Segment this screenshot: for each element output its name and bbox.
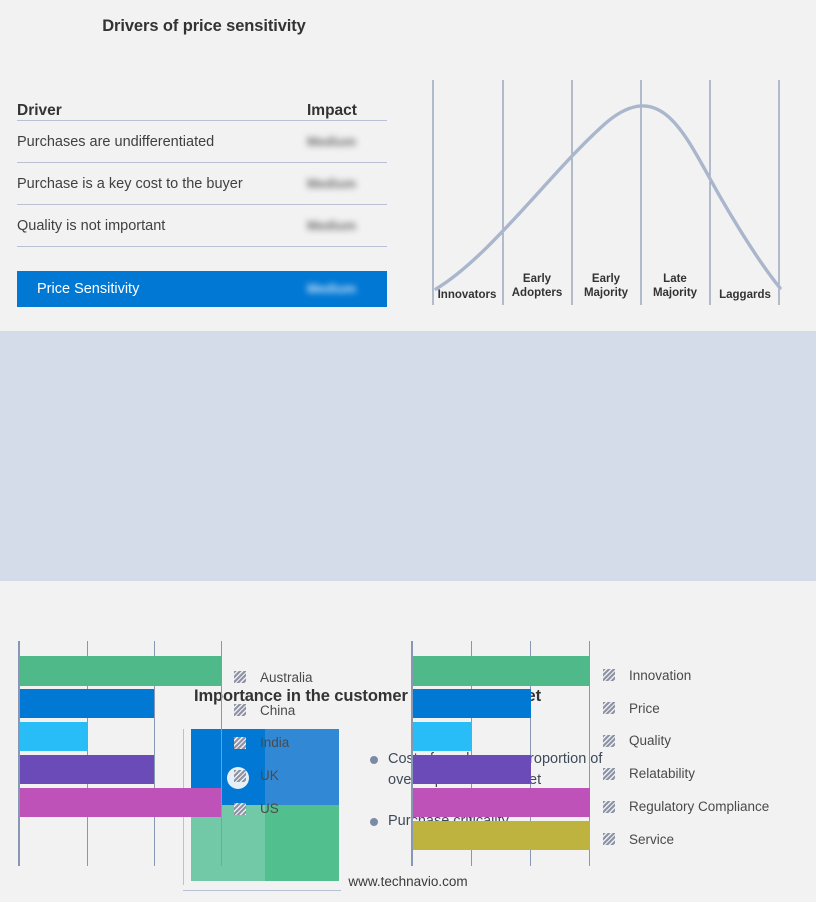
legend-item: Price (603, 692, 815, 725)
legend-item: Relatability (603, 757, 815, 790)
hatch-swatch-icon (603, 833, 615, 845)
lifecycle-stage-early-adopters: Early Adopters (501, 273, 573, 300)
price-sensitivity-summary-row: Price Sensitivity Medium (17, 271, 387, 307)
lifecycle-panel: Adoption lifecycle Innovators Early (408, 0, 816, 331)
lifecycle-bell-curve (436, 106, 780, 289)
infographic-page: Drivers of price sensitivity Driver Impa… (0, 0, 816, 902)
hatch-swatch-icon (603, 768, 615, 780)
bar (413, 722, 472, 752)
legend-label: Service (629, 832, 674, 847)
legend-label: US (260, 801, 279, 816)
legend-item: Quality (603, 725, 815, 758)
legend-item: India (234, 727, 404, 760)
table-row: Purchases are undifferentiated Medium (17, 121, 387, 163)
drivers-table: Driver Impact Purchases are undifferenti… (17, 91, 387, 247)
impact-value: Medium (307, 133, 387, 151)
price-sensitivity-impact: Medium (307, 280, 387, 298)
legend-label: Quality (629, 733, 671, 748)
drivers-title: Drivers of price sensitivity (0, 17, 408, 36)
key-purchase-criteria-legend: InnovationPriceQualityRelatabilityRegula… (603, 659, 815, 856)
hatch-swatch-icon (234, 671, 246, 683)
hatch-swatch-icon (603, 702, 615, 714)
bar (413, 755, 531, 785)
impact-value: Medium (307, 217, 387, 235)
hatch-swatch-icon (603, 669, 615, 681)
drivers-panel: Drivers of price sensitivity Driver Impa… (0, 0, 408, 331)
lifecycle-stage-laggards: Laggards (709, 289, 781, 303)
lifecycle-stage-labels: Innovators Early Adopters Early Majority… (432, 272, 804, 308)
key-purchase-criteria-plot (411, 641, 591, 866)
legend-item: US (234, 792, 404, 825)
column-header-impact: Impact (307, 102, 387, 120)
impact-value: Medium (307, 175, 387, 193)
legend-item: Service (603, 823, 815, 856)
adoption-rates-plot (18, 641, 222, 866)
driver-label: Purchase is a key cost to the buyer (17, 176, 307, 192)
bar (413, 821, 590, 851)
bar (20, 755, 154, 785)
legend-label: Price (629, 701, 660, 716)
criteria-bars-group (413, 641, 591, 866)
legend-item: Australia (234, 661, 404, 694)
table-row: Quality is not important Medium (17, 205, 387, 247)
bar (20, 722, 87, 752)
legend-item: Innovation (603, 659, 815, 692)
hatch-swatch-icon (603, 801, 615, 813)
legend-label: Relatability (629, 766, 695, 781)
adoption-rates-legend: AustraliaChinaIndiaUKUS (234, 661, 404, 825)
lifecycle-stage-late-majority: Late Majority (639, 273, 711, 300)
legend-label: UK (260, 768, 279, 783)
driver-label: Quality is not important (17, 218, 307, 234)
hatch-swatch-icon (234, 770, 246, 782)
bar (20, 689, 154, 719)
basket-panel: Importance in the customer purchase bask… (0, 331, 816, 581)
table-header-row: Driver Impact (17, 91, 387, 121)
hatch-swatch-icon (603, 735, 615, 747)
hatch-swatch-icon (234, 737, 246, 749)
legend-label: India (260, 735, 289, 750)
legend-item: UK (234, 759, 404, 792)
bar (20, 656, 221, 686)
hatch-swatch-icon (234, 704, 246, 716)
legend-label: China (260, 703, 295, 718)
column-header-driver: Driver (17, 102, 307, 120)
bar (413, 689, 531, 719)
legend-item: Regulatory Compliance (603, 790, 815, 823)
adoption-bars-group (20, 641, 222, 866)
legend-label: Australia (260, 670, 313, 685)
bar (413, 788, 590, 818)
lifecycle-stage-innovators: Innovators (431, 289, 503, 303)
bar (413, 656, 590, 686)
legend-label: Innovation (629, 668, 691, 683)
footer-url: www.technavio.com (0, 874, 816, 889)
legend-item: China (234, 694, 404, 727)
price-sensitivity-label: Price Sensitivity (17, 281, 307, 297)
lifecycle-stage-early-majority: Early Majority (570, 273, 642, 300)
driver-label: Purchases are undifferentiated (17, 134, 307, 150)
bar (20, 788, 221, 818)
hatch-swatch-icon (234, 803, 246, 815)
table-row: Purchase is a key cost to the buyer Medi… (17, 163, 387, 205)
legend-label: Regulatory Compliance (629, 799, 769, 814)
